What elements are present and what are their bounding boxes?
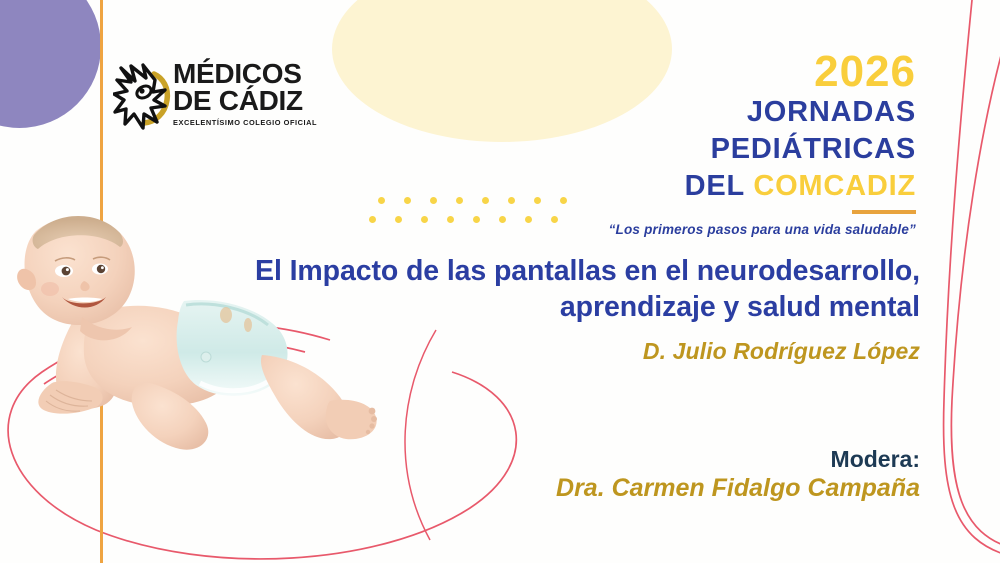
event-name-line-1: JORNADAS — [609, 94, 916, 131]
talk-title: El Impacto de las pantallas en el neurod… — [150, 253, 920, 326]
logo-line-1: MÉDICOS — [173, 61, 328, 88]
talk-title-line-2: aprendizaje y salud mental — [150, 289, 920, 325]
comcadiz-logo: MÉDICOS DE CÁDIZ EXCELENTÍSIMO COLEGIO O… — [113, 58, 328, 138]
talk-speaker: D. Julio Rodríguez López — [643, 338, 920, 365]
event-header: 2026 JORNADAS PEDIÁTRICAS DEL COMCADIZ “… — [609, 50, 916, 237]
purple-circle-decoration — [0, 0, 101, 128]
moderator-label: Modera: — [831, 446, 920, 473]
event-name-comcadiz: COMCADIZ — [753, 170, 916, 202]
event-name-del: DEL — [685, 170, 745, 202]
header-underline — [852, 210, 916, 214]
dot-grid-decoration — [378, 197, 567, 223]
event-name-line-2: PEDIÁTRICAS — [609, 131, 916, 168]
moderator-name: Dra. Carmen Fidalgo Campaña — [556, 474, 920, 503]
logo-line-2: DE CÁDIZ — [173, 88, 328, 115]
event-year: 2026 — [609, 50, 916, 94]
talk-title-line-1: El Impacto de las pantallas en el neurod… — [150, 253, 920, 289]
crawling-baby-photo — [0, 205, 390, 475]
event-name-line-3: DEL COMCADIZ — [609, 168, 916, 205]
logo-line-3: EXCELENTÍSIMO COLEGIO OFICIAL — [173, 118, 328, 127]
event-tagline: “Los primeros pasos para una vida saluda… — [609, 222, 916, 237]
event-poster: MÉDICOS DE CÁDIZ EXCELENTÍSIMO COLEGIO O… — [0, 0, 1000, 563]
star-logo-icon — [113, 62, 175, 134]
